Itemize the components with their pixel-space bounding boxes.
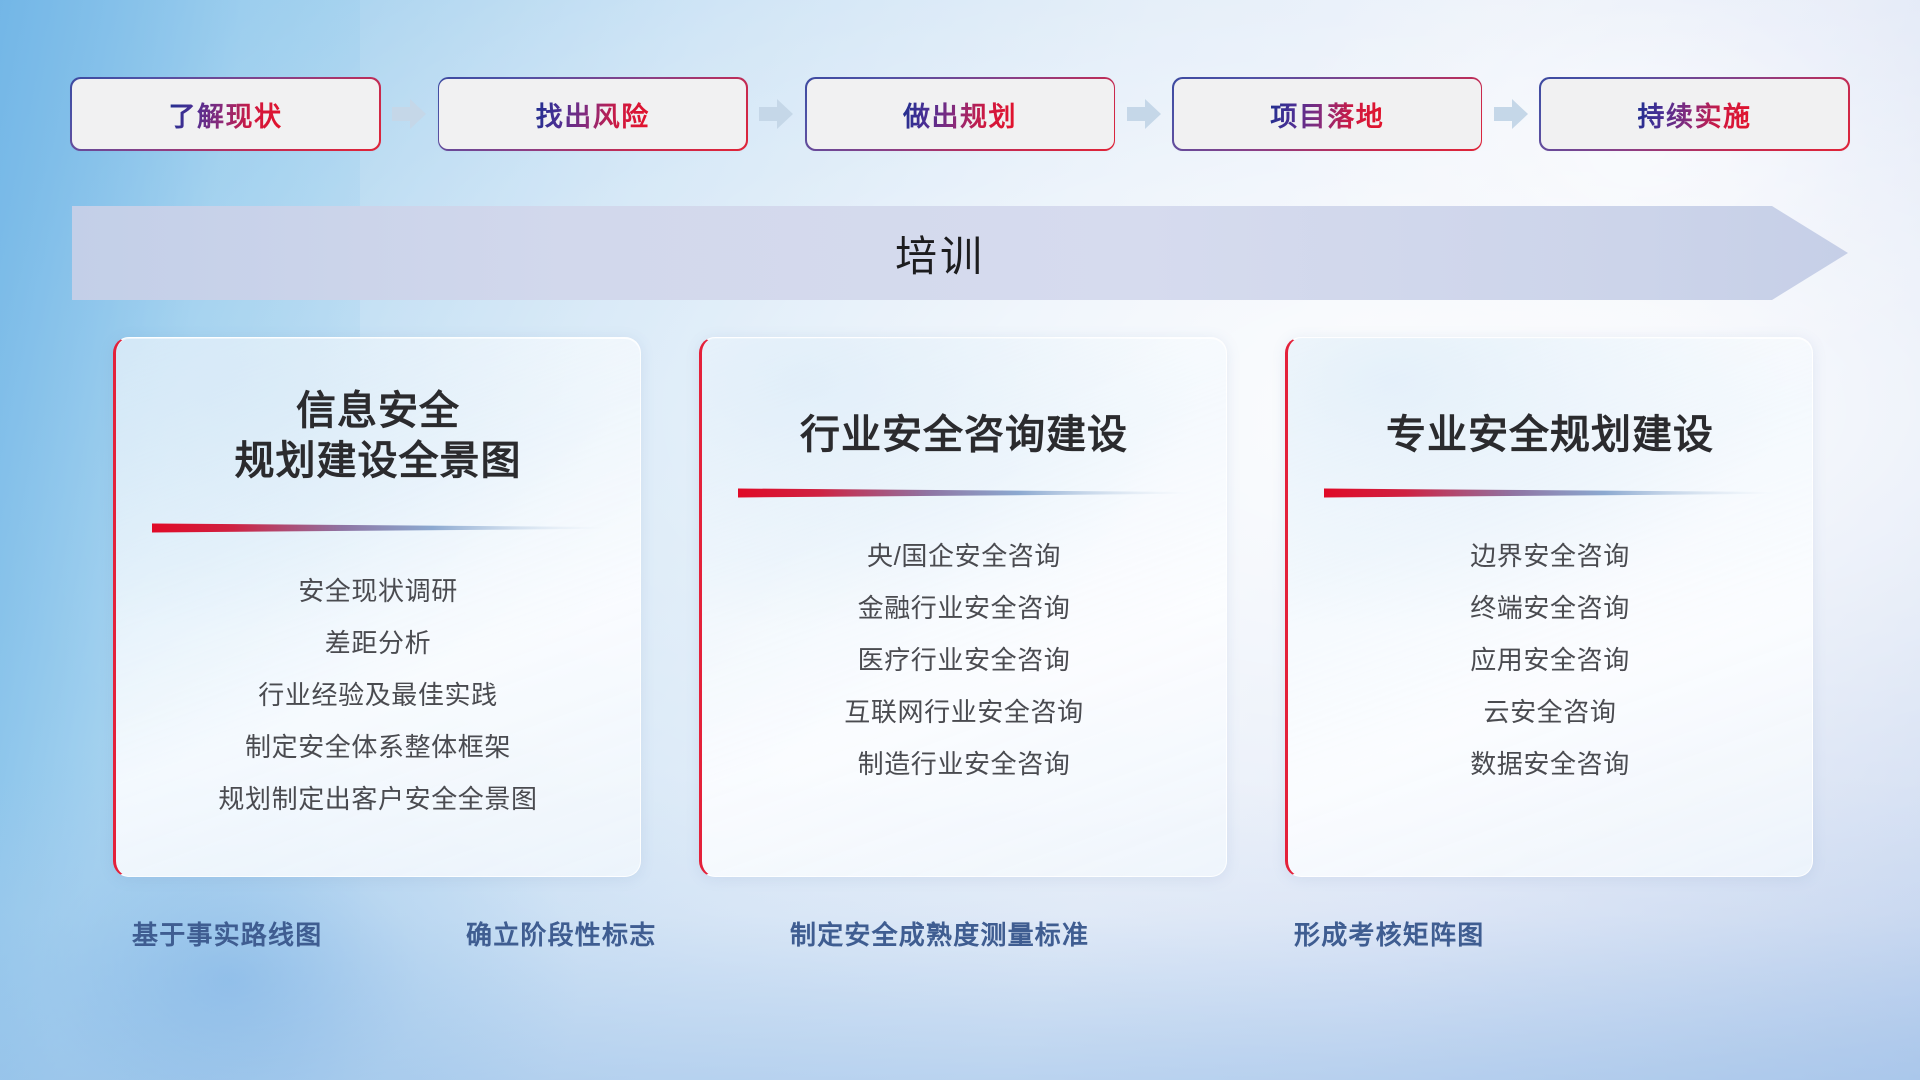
caption-3: 制定安全成熟度测量标准 [790, 915, 1089, 952]
tapered-divider-icon [1324, 486, 1776, 500]
step-label-1: 了解现状 [169, 95, 283, 134]
training-banner: 培训 [72, 206, 1848, 300]
card-item-list: 安全现状调研 差距分析 行业经验及最佳实践 制定安全体系整体框架 规划制定出客户… [116, 565, 640, 825]
arrow-right-icon [1125, 96, 1163, 132]
arrow-right-icon [1492, 96, 1530, 132]
step-box-3[interactable]: 做出规划 [807, 79, 1114, 149]
card-item-list: 央/国企安全咨询 金融行业安全咨询 医疗行业安全咨询 互联网行业安全咨询 制造行… [702, 530, 1226, 790]
arrow-right-icon [390, 96, 428, 132]
list-item: 边界安全咨询 [1288, 530, 1812, 582]
tapered-divider-icon [738, 486, 1190, 500]
step-label-4: 项目落地 [1270, 95, 1384, 134]
caption-1: 基于事实路线图 [132, 915, 322, 952]
step-label-5: 持续实施 [1638, 95, 1752, 134]
list-item: 制定安全体系整体框架 [116, 721, 640, 773]
step-box-4[interactable]: 项目落地 [1174, 79, 1481, 149]
card-professional-security-planning[interactable]: 专业安全规划建设 [1285, 337, 1813, 877]
card-item-list: 边界安全咨询 终端安全咨询 应用安全咨询 云安全咨询 数据安全咨询 [1288, 530, 1812, 790]
slide-stage: 了解现状 找出风险 做出规划 项目落地 [0, 0, 1920, 1080]
step-label-3: 做出规划 [903, 95, 1017, 134]
list-item: 数据安全咨询 [1288, 738, 1812, 790]
list-item: 互联网行业安全咨询 [702, 686, 1226, 738]
card-title: 信息安全 规划建设全景图 [235, 338, 522, 487]
card-title: 行业安全咨询建设 [800, 338, 1128, 460]
list-item: 金融行业安全咨询 [702, 582, 1226, 634]
caption-2: 确立阶段性标志 [466, 915, 656, 952]
card-industry-security-consulting[interactable]: 行业安全咨询建设 [699, 337, 1227, 877]
list-item: 行业经验及最佳实践 [116, 669, 640, 721]
caption-row: 基于事实路线图 确立阶段性标志 制定安全成熟度测量标准 形成考核矩阵图 [0, 915, 1920, 965]
list-item: 规划制定出客户安全全景图 [116, 773, 640, 825]
caption-4: 形成考核矩阵图 [1294, 915, 1484, 952]
list-item: 终端安全咨询 [1288, 582, 1812, 634]
card-row: 信息安全 规划建设全景图 [113, 337, 1813, 877]
step-label-2: 找出风险 [536, 95, 650, 134]
card-information-security-blueprint[interactable]: 信息安全 规划建设全景图 [113, 337, 641, 877]
process-step-row: 了解现状 找出风险 做出规划 项目落地 [72, 78, 1848, 150]
step-box-5[interactable]: 持续实施 [1541, 79, 1848, 149]
banner-title: 培训 [72, 206, 1848, 300]
step-box-2[interactable]: 找出风险 [439, 79, 746, 149]
list-item: 差距分析 [116, 617, 640, 669]
tapered-divider-icon [152, 521, 604, 535]
list-item: 央/国企安全咨询 [702, 530, 1226, 582]
step-box-1[interactable]: 了解现状 [72, 79, 379, 149]
list-item: 安全现状调研 [116, 565, 640, 617]
list-item: 制造行业安全咨询 [702, 738, 1226, 790]
card-title: 专业安全规划建设 [1386, 338, 1714, 460]
list-item: 云安全咨询 [1288, 686, 1812, 738]
list-item: 应用安全咨询 [1288, 634, 1812, 686]
arrow-right-icon [757, 96, 795, 132]
list-item: 医疗行业安全咨询 [702, 634, 1226, 686]
